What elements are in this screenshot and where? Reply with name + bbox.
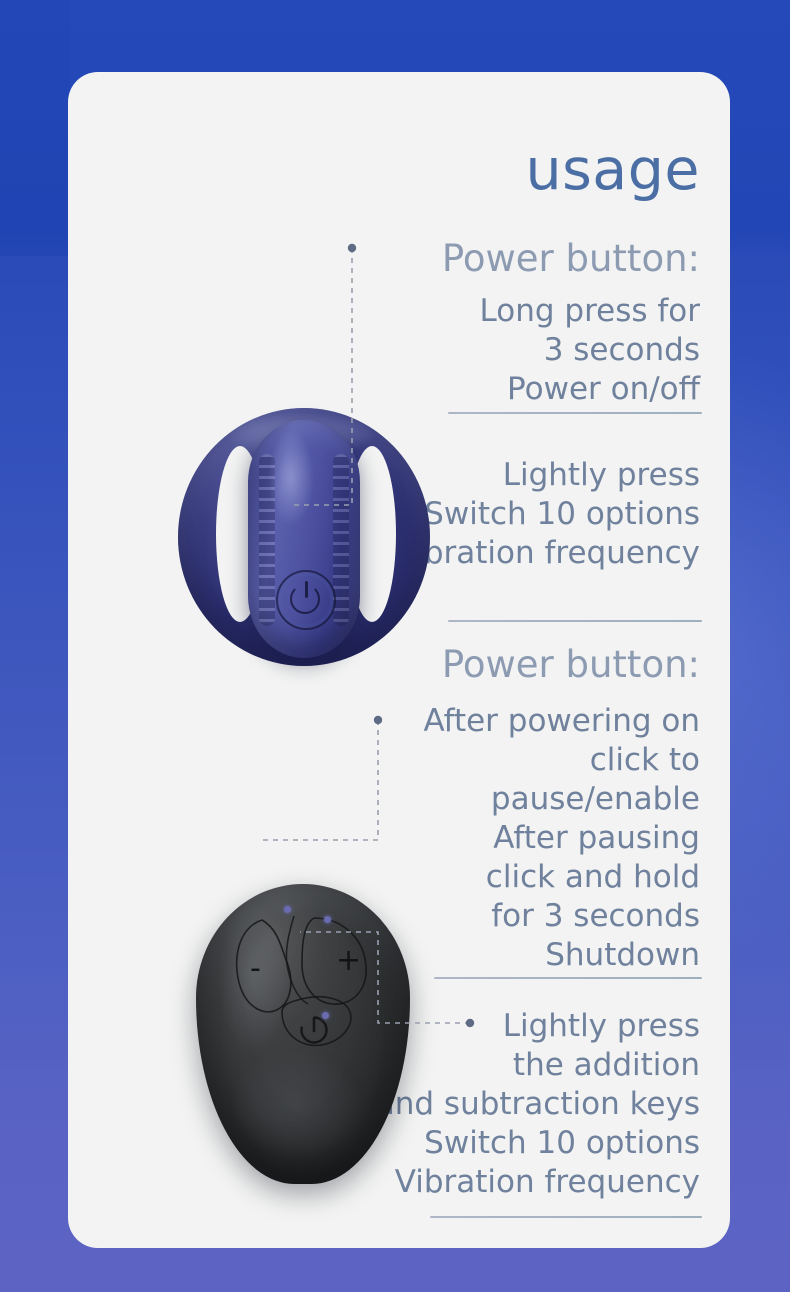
section-2-heading: Power button: <box>442 646 700 683</box>
section-1-heading: Power button: <box>442 240 700 277</box>
vibrating-ring-image <box>172 402 440 674</box>
indicator-dot-top <box>284 906 291 913</box>
section-2-block-1: After powering on click to pause/enable … <box>423 702 700 975</box>
remote-button-pad <box>222 908 384 1050</box>
plus-icon: + <box>336 946 361 976</box>
ring-center-body <box>248 420 360 658</box>
remote-highlight-bottom <box>230 1048 362 1160</box>
infographic-page: usage Power button: Long press for 3 sec… <box>0 0 790 1292</box>
divider-3 <box>434 977 702 979</box>
section-1-block-2: Lightly press Switch 10 options Vibratio… <box>395 456 700 573</box>
remote-control-image: - + <box>196 884 410 1184</box>
background-seam <box>0 0 70 256</box>
indicator-dot-plus <box>324 916 331 923</box>
section-1-block-1: Long press for 3 seconds Power on/off <box>480 292 700 409</box>
minus-icon: - <box>250 954 261 984</box>
divider-2 <box>448 620 702 622</box>
divider-4 <box>430 1216 702 1218</box>
power-icon <box>276 570 336 630</box>
divider-1 <box>448 412 702 414</box>
indicator-dot-power <box>322 1012 329 1019</box>
ring-body-highlight <box>268 430 314 526</box>
usage-card: usage Power button: Long press for 3 sec… <box>68 72 730 1248</box>
section-2-block-2: Lightly press the addition and subtracti… <box>376 1007 700 1202</box>
page-title: usage <box>525 142 700 199</box>
